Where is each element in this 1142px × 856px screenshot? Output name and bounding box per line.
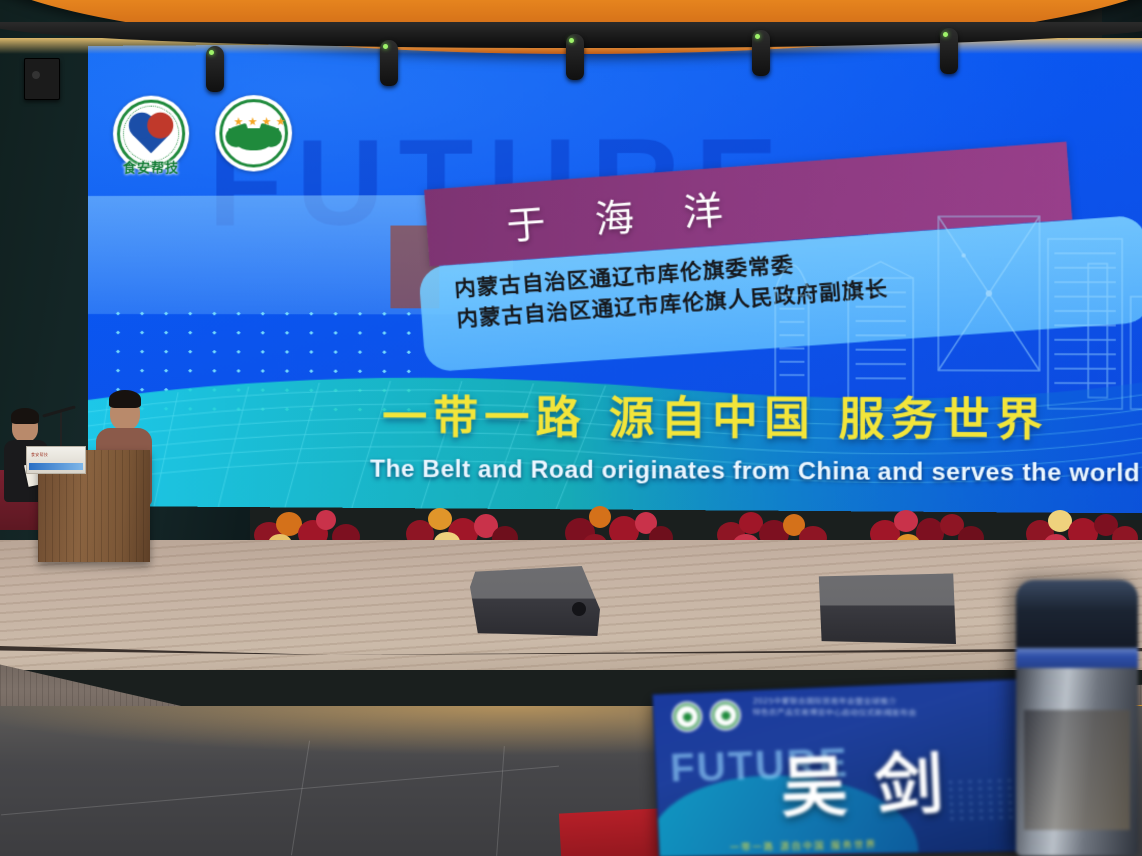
nameplate-slogan: 一带一路 源自中国 服务世界 [730,837,878,853]
tumbler-label [1024,710,1130,830]
nameplate-name: 吴剑 [717,728,1039,832]
stage-light-5 [940,28,958,74]
stage-light-4 [752,30,770,76]
screen-logo-group: 食安帮技 ★★ ★★ [113,95,292,172]
stage-light-1 [206,46,224,92]
stage-monitor-right [816,572,956,644]
hanging-speaker [24,58,60,100]
nameplate-header: 2025中蒙联合国际贸易年会暨全球推介 特色农产品交易博览中心启动仪式新闻发布会 [753,695,1019,719]
stage-light-2 [380,40,398,86]
nameplate-logo-group [671,699,741,732]
conference-stage-photo: FUTURE 食安帮技 ★★ ★★ [0,0,1142,856]
tumbler-cap [1016,580,1138,648]
leaf-icon: ★★ ★★ [225,116,282,150]
green-leaf-star-emblem-icon [710,699,742,730]
podium-sign: 食安帮技 [26,446,86,474]
podium-sign-text: 食安帮技 [31,452,48,458]
slogan-english: The Belt and Road originates from China … [370,456,1140,489]
logo-caption-1: 食安帮技 [113,157,189,176]
nameplate-header-line-1: 2025中蒙联合国际贸易年会暨全球推介 [753,695,1019,707]
desk-nameplate: FUTURE 2025中蒙联合国际贸易年会暨全球推介 特色农产品交易博览中心启动… [652,678,1051,856]
insulated-travel-tumbler [1016,580,1138,856]
heart-shield-emblem-icon: 食安帮技 [113,95,189,171]
nameplate-header-line-2: 特色农产品交易博览中心启动仪式新闻发布会 [753,707,1019,720]
speaker-name: 于 海 洋 [504,177,743,250]
stage-monitor-left [470,566,600,636]
led-screen: FUTURE 食安帮技 ★★ ★★ [88,39,1142,514]
green-leaf-star-emblem-icon: ★★ ★★ [215,95,292,172]
stage-light-3 [566,34,584,80]
heart-shield-emblem-icon [671,701,702,732]
slogan-chinese: 一带一路 源自中国 服务世界 [382,381,1048,449]
